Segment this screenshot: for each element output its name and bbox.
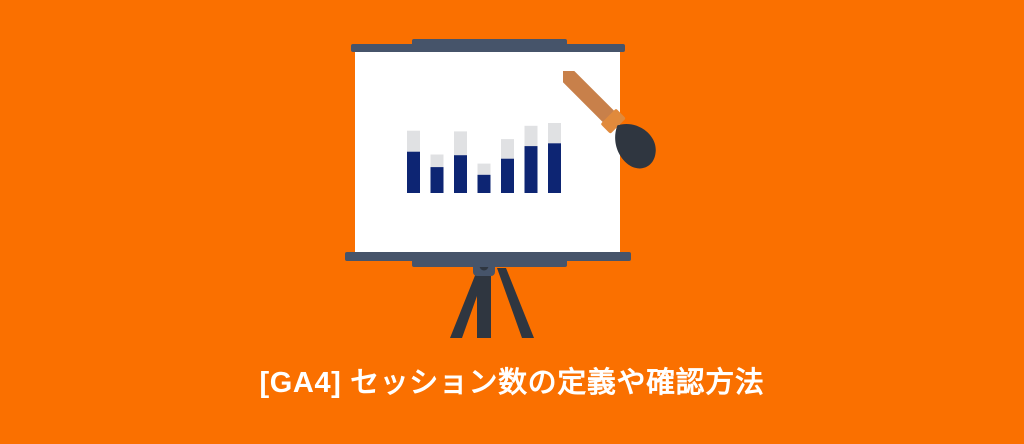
bar-segment-remainder [454, 131, 467, 155]
easel-illustration [0, 0, 1024, 345]
bar-segment-filled [407, 152, 420, 193]
bar-segment-filled [501, 159, 514, 193]
bar-segment-remainder [501, 139, 514, 159]
bar-segment-remainder [431, 155, 444, 168]
whiteboard-top-rail [351, 44, 625, 52]
bar-segment-remainder [407, 131, 420, 152]
bar-segment-remainder [525, 126, 538, 146]
whiteboard [345, 39, 631, 267]
whiteboard-bottom-lip [412, 258, 567, 267]
page-title: [GA4] セッション数の定義や確認方法 [259, 366, 764, 401]
title-area: [GA4] セッション数の定義や確認方法 [0, 355, 1024, 411]
bar-segment-filled [525, 146, 538, 193]
hero-banner: [GA4] セッション数の定義や確認方法 [0, 0, 1024, 444]
tripod-leg-right [497, 268, 534, 338]
bar-segment-remainder [548, 123, 561, 143]
bar-segment-filled [431, 167, 444, 193]
tripod [450, 258, 534, 338]
bar-segment-filled [548, 143, 561, 193]
bar-segment-filled [454, 155, 467, 193]
bar-segment-remainder [478, 164, 491, 175]
bar-segment-filled [478, 175, 491, 193]
